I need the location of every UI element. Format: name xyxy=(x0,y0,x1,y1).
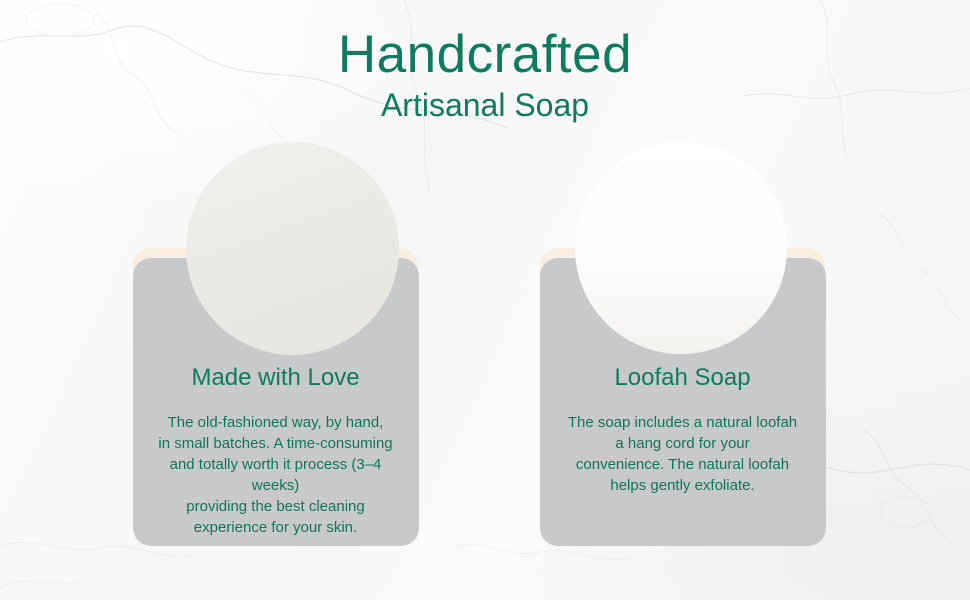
page-title: Handcrafted xyxy=(0,26,970,84)
card-body: Made with Love The old-fashioned way, by… xyxy=(133,364,418,538)
woman-pouring-soap-photo xyxy=(186,142,399,355)
photo-backdrop xyxy=(575,142,787,354)
card-description: The old-fashioned way, by hand, in small… xyxy=(145,412,406,538)
card-text-line: in small batches. A time-consuming xyxy=(145,433,406,454)
card-text-line: The old-fashioned way, by hand, xyxy=(145,412,406,433)
card-text-line: a hang cord for your xyxy=(552,433,813,454)
card-body: Loofah Soap The soap includes a natural … xyxy=(540,364,825,496)
page-subtitle: Artisanal Soap xyxy=(0,86,970,124)
card-heading: Made with Love xyxy=(145,364,406,392)
card-text-line: convenience. The natural loofah xyxy=(552,454,813,475)
card-text-line: helps gently exfoliate. xyxy=(552,475,813,496)
photo-backdrop xyxy=(186,142,399,355)
loofah-soap-bar-photo: Restorative Soap Bar eNat HANDMADE xyxy=(575,142,787,354)
card-text-line: and totally worth it process (3–4 weeks) xyxy=(145,454,406,496)
page-title-block: Handcrafted Artisanal Soap xyxy=(0,26,970,124)
card-heading: Loofah Soap xyxy=(552,364,813,392)
card-text-line: providing the best cleaning xyxy=(145,496,406,517)
card-text-line: The soap includes a natural loofah xyxy=(552,412,813,433)
card-description: The soap includes a natural loofah a han… xyxy=(552,412,813,496)
card-text-line: experience for your skin. xyxy=(145,517,406,538)
